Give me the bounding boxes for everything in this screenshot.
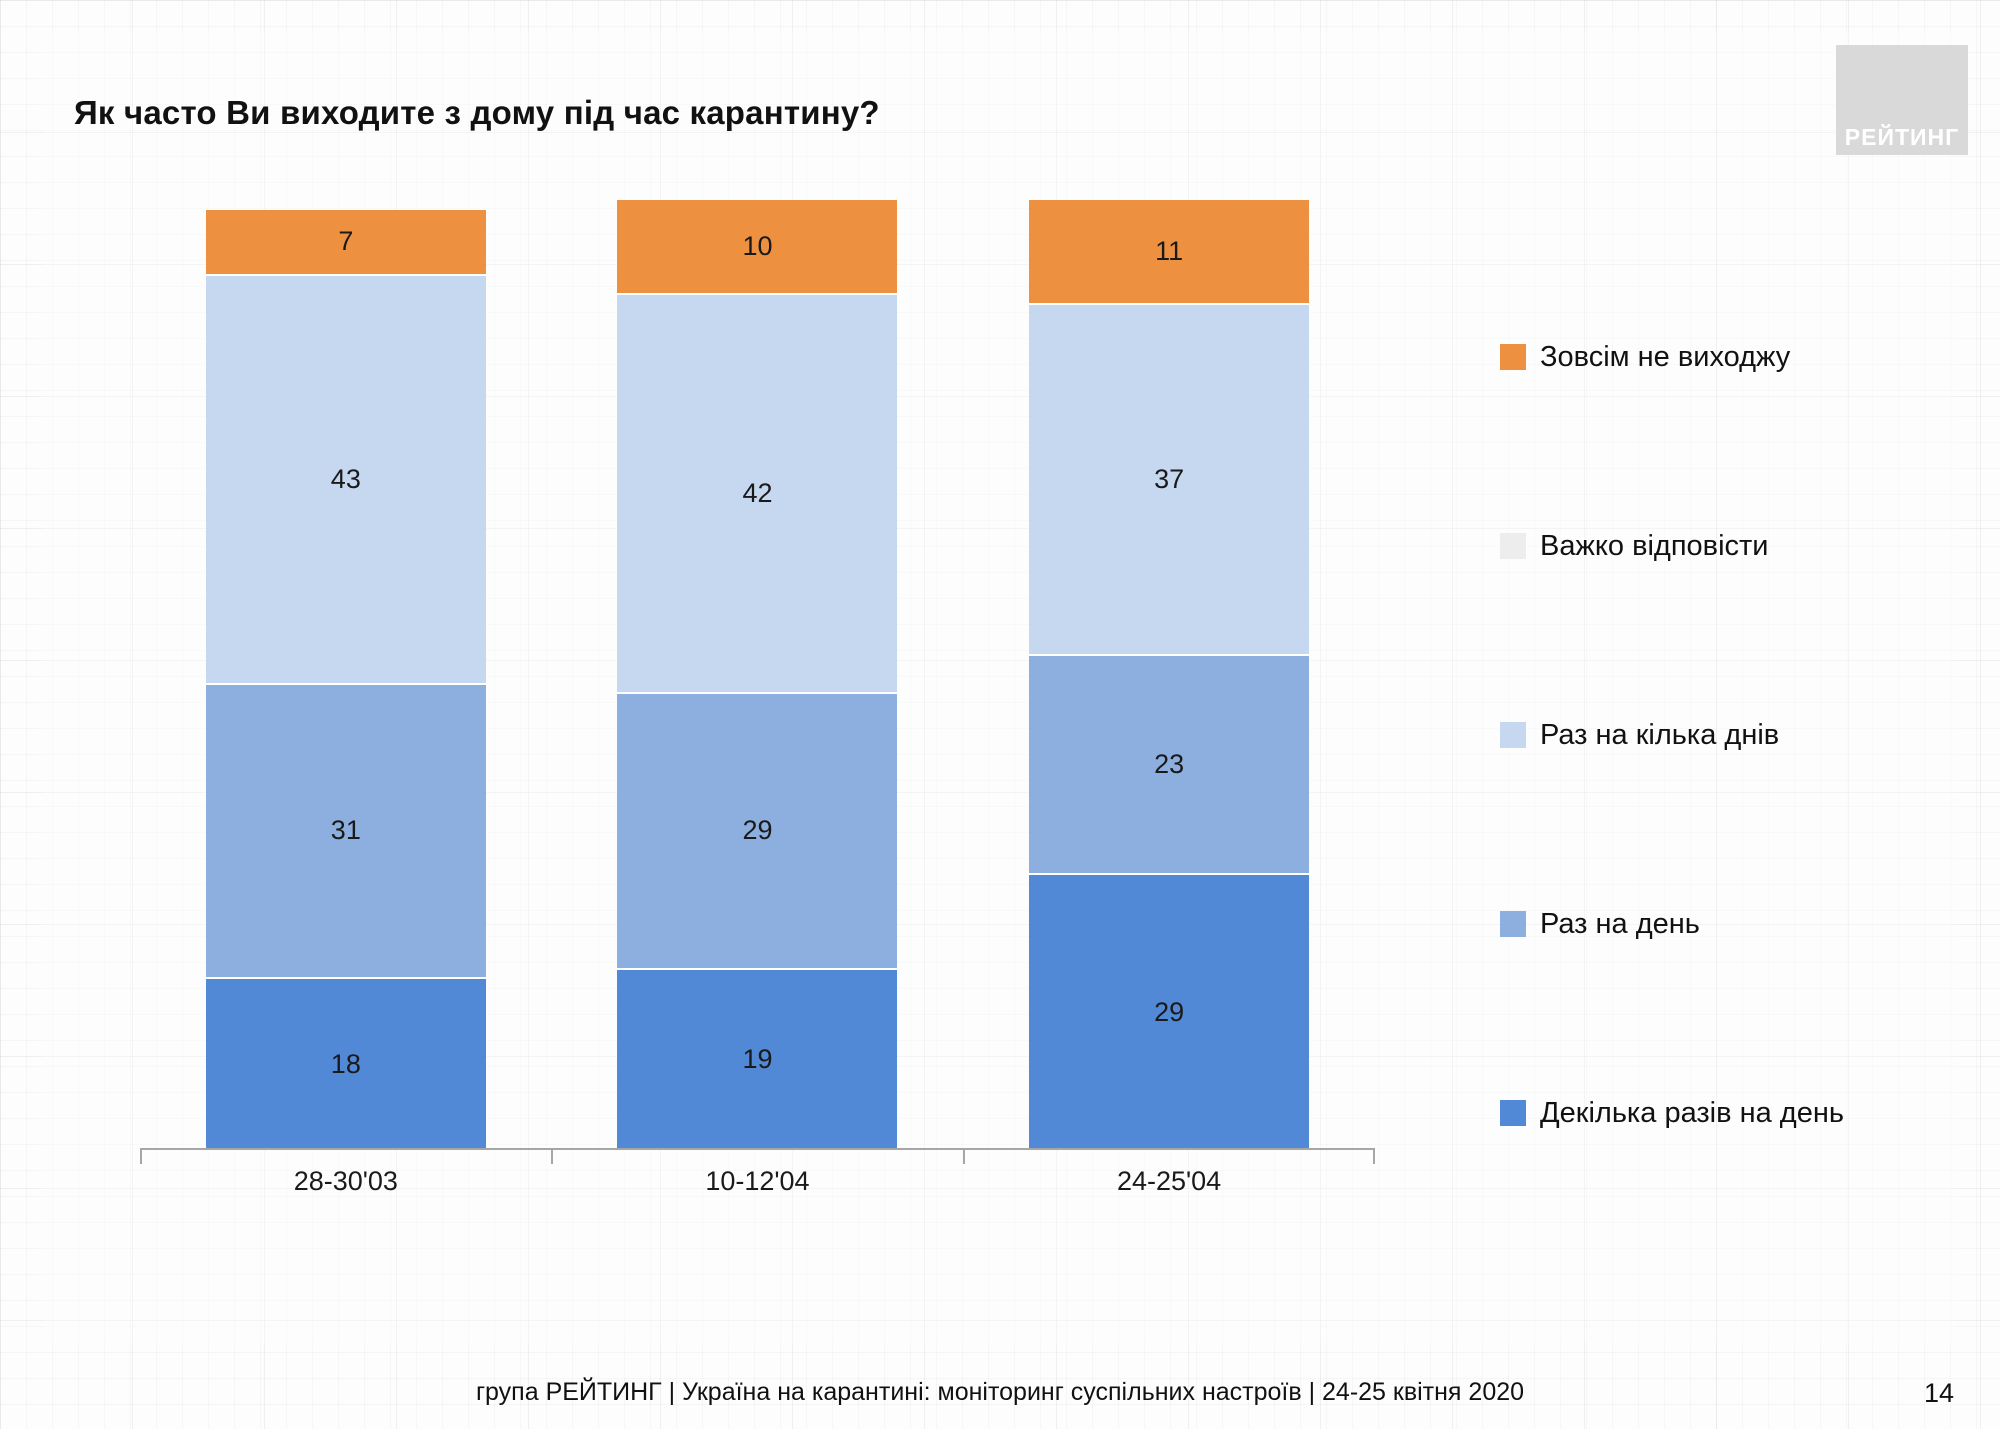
legend-item[interactable]: Важко відповісти	[1500, 529, 1930, 563]
legend-item[interactable]: Декілька разів на день	[1500, 1096, 1930, 1130]
legend-label: Раз на кілька днів	[1540, 719, 1779, 752]
legend-label: Важко відповісти	[1540, 530, 1769, 563]
bar-segment-label: 7	[338, 226, 353, 257]
bar-segment[interactable]: 31	[206, 685, 486, 980]
bar-segment-label: 31	[331, 815, 361, 846]
bar-segment[interactable]: 23	[1029, 656, 1309, 875]
legend-swatch-icon	[1500, 533, 1526, 559]
x-axis-label: 24-25'04	[963, 1166, 1375, 1197]
axis-tick	[140, 1150, 142, 1164]
legend-item[interactable]: Раз на день	[1500, 907, 1930, 941]
bar-segment[interactable]: 19	[617, 970, 897, 1151]
bar-segment[interactable]: 29	[1029, 875, 1309, 1151]
chart-title: Як часто Ви виходите з дому під час кара…	[74, 94, 880, 132]
legend-swatch-icon	[1500, 911, 1526, 937]
bar-segment-label: 19	[742, 1044, 772, 1075]
bar-segment[interactable]: 7	[206, 210, 486, 277]
bar-segment[interactable]: 11	[1029, 200, 1309, 305]
chart-legend: Зовсім не виходжуВажко відповістиРаз на …	[1500, 340, 1930, 1130]
bar-segment[interactable]: 10	[617, 200, 897, 295]
legend-swatch-icon	[1500, 722, 1526, 748]
legend-item[interactable]: Раз на кілька днів	[1500, 718, 1930, 752]
bar-group: 11372329	[963, 200, 1375, 1150]
bar-segment[interactable]: 18	[206, 979, 486, 1150]
axis-tick	[551, 1150, 553, 1164]
footer-text: група РЕЙТИНГ | Україна на карантині: мо…	[0, 1378, 2000, 1407]
bar-segment-label: 43	[331, 464, 361, 495]
stacked-bar[interactable]: 7433118	[206, 210, 486, 1151]
bar-segment-label: 29	[742, 815, 772, 846]
legend-label: Раз на день	[1540, 908, 1700, 941]
bar-segment-label: 11	[1155, 236, 1183, 267]
legend-item[interactable]: Зовсім не виходжу	[1500, 340, 1930, 374]
bar-segment[interactable]: 42	[617, 295, 897, 694]
rating-logo-text: РЕЙТИНГ	[1845, 126, 1959, 149]
bar-segment-label: 10	[742, 231, 772, 262]
bar-segment-label: 37	[1154, 464, 1184, 495]
plot-area: 74331181042291911372329	[140, 200, 1375, 1150]
legend-swatch-icon	[1500, 344, 1526, 370]
bar-group: 10422919	[552, 200, 964, 1150]
legend-swatch-icon	[1500, 1100, 1526, 1126]
stacked-bar[interactable]: 10422919	[617, 200, 897, 1150]
stacked-bar[interactable]: 11372329	[1029, 200, 1309, 1150]
x-axis-label: 28-30'03	[140, 1166, 552, 1197]
bar-segment[interactable]: 29	[617, 694, 897, 970]
bar-segment[interactable]: 43	[206, 276, 486, 685]
x-axis-label: 10-12'04	[552, 1166, 964, 1197]
page-number: 14	[1924, 1378, 1954, 1409]
slide: РЕЙТИНГ Як часто Ви виходите з дому під …	[0, 0, 2000, 1429]
bar-segment-label: 18	[331, 1049, 361, 1080]
x-axis-line	[140, 1148, 1375, 1150]
bar-group: 7433118	[140, 200, 552, 1150]
bar-segment[interactable]: 37	[1029, 305, 1309, 657]
rating-logo: РЕЙТИНГ	[1836, 45, 1968, 155]
bar-series-container: 74331181042291911372329	[140, 200, 1375, 1150]
axis-tick	[963, 1150, 965, 1164]
bar-segment-label: 23	[1154, 749, 1184, 780]
x-axis-labels: 28-30'0310-12'0424-25'04	[140, 1166, 1375, 1197]
legend-label: Зовсім не виходжу	[1540, 341, 1790, 374]
bar-segment-label: 42	[742, 478, 772, 509]
axis-tick	[1373, 1150, 1375, 1164]
legend-label: Декілька разів на день	[1540, 1097, 1844, 1130]
bar-segment-label: 29	[1154, 997, 1184, 1028]
